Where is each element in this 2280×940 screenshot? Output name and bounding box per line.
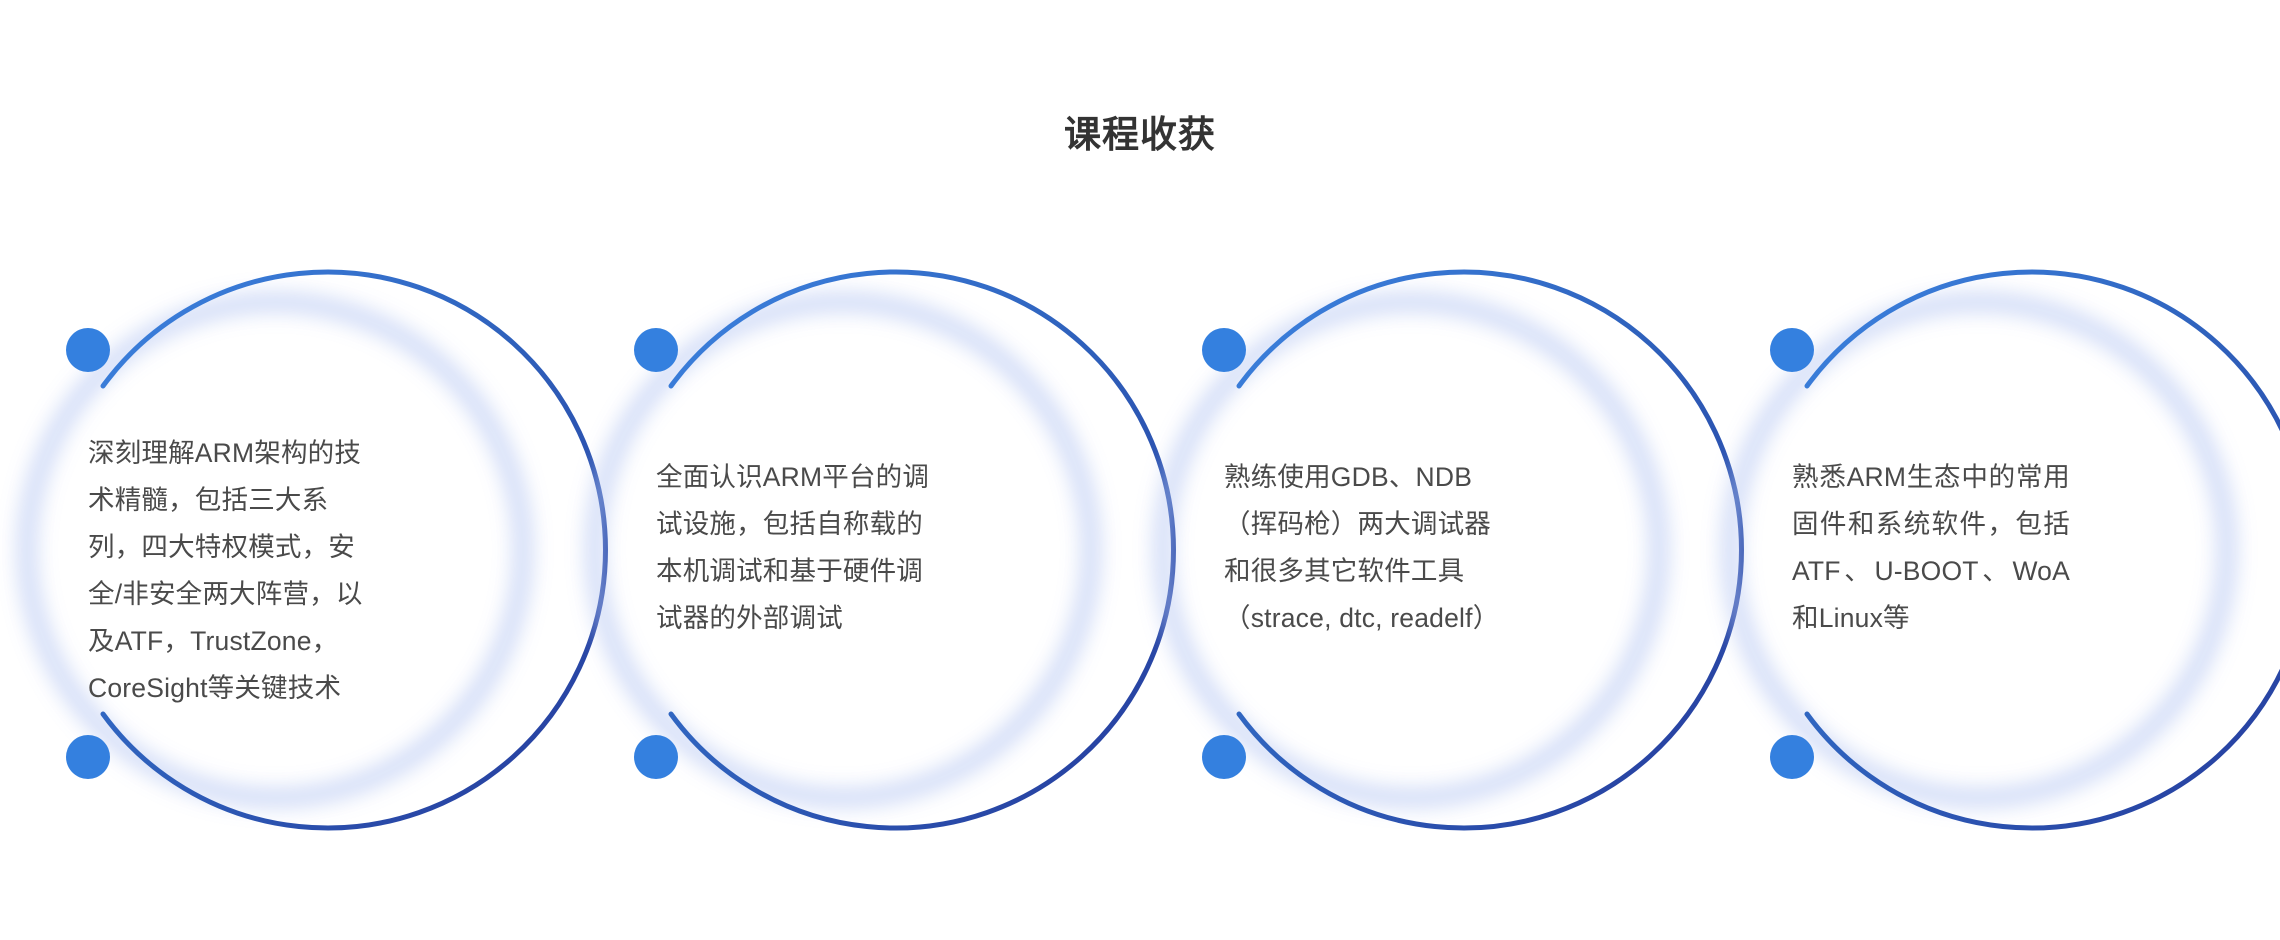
course-outcomes-infographic: 课程收获 深刻理解ARM架构的技术精髓，包括三大系列，四大特权模式，安全/非安全… xyxy=(0,0,2280,940)
node-dot-top[interactable] xyxy=(1202,328,1246,372)
page-title: 课程收获 xyxy=(0,110,2280,160)
node-dot-bottom[interactable] xyxy=(1202,735,1246,779)
node-dot-top[interactable] xyxy=(1770,328,1814,372)
outcome-card-2: 全面认识ARM平台的调试设施，包括自称载的本机调试和基于硬件调试器的外部调试 xyxy=(551,258,1135,858)
node-dot-bottom[interactable] xyxy=(66,735,110,779)
node-dot-bottom[interactable] xyxy=(1770,735,1814,779)
outcome-text: 深刻理解ARM架构的技术精髓，包括三大系列，四大特权模式，安全/非安全两大阵营，… xyxy=(88,430,366,712)
outcome-text: 熟练使用GDB、NDB（挥码枪）两大调试器和很多其它软件工具（strace, d… xyxy=(1224,454,1502,642)
outcome-card-1: 深刻理解ARM架构的技术精髓，包括三大系列，四大特权模式，安全/非安全两大阵营，… xyxy=(0,258,567,858)
outcome-card-4: 熟悉ARM生态中的常用固件和系统软件，包括ATF、U-BOOT、WoA和Linu… xyxy=(1687,258,2271,858)
node-dot-bottom[interactable] xyxy=(634,735,678,779)
outcome-card-3: 熟练使用GDB、NDB（挥码枪）两大调试器和很多其它软件工具（strace, d… xyxy=(1119,258,1703,858)
node-dot-top[interactable] xyxy=(66,328,110,372)
node-dot-top[interactable] xyxy=(634,328,678,372)
outcome-text: 熟悉ARM生态中的常用固件和系统软件，包括ATF、U-BOOT、WoA和Linu… xyxy=(1792,454,2070,642)
outcome-text: 全面认识ARM平台的调试设施，包括自称载的本机调试和基于硬件调试器的外部调试 xyxy=(656,454,934,642)
